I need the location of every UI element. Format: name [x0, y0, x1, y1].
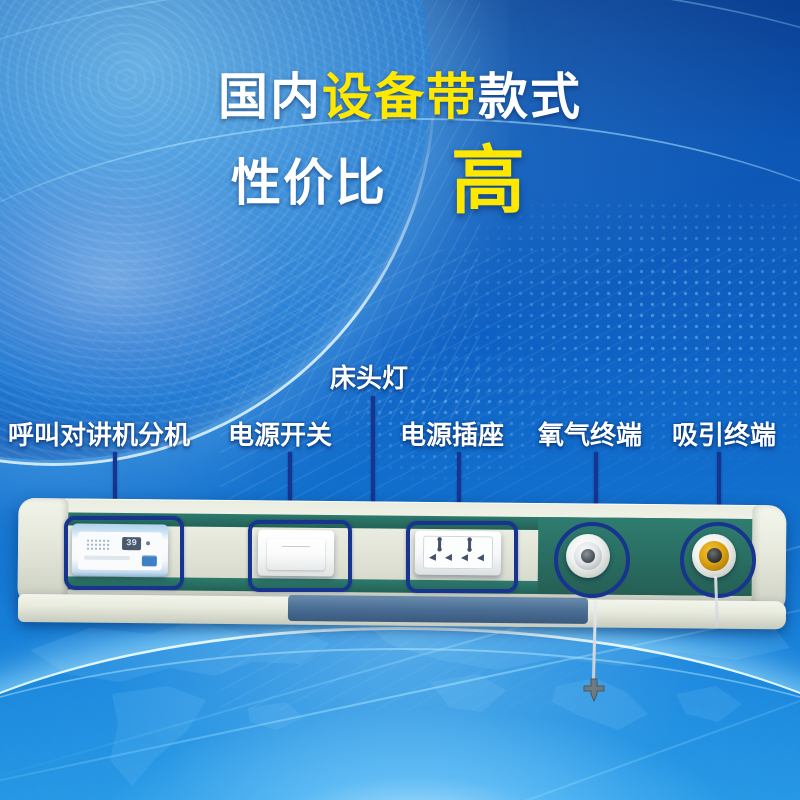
- highlight-box-intercom: [64, 516, 184, 590]
- panel-end-cap-left: [17, 498, 68, 606]
- poster-canvas: 国内设备带款式 性价比高 呼叫对讲机分机 电源开关 床头灯 电源插座 氧气终端 …: [0, 0, 800, 800]
- highlight-circle-oxygen-terminal: [554, 522, 630, 598]
- headline-line-1: 国内设备带款式: [0, 72, 800, 122]
- headline-value-phrase: 性价比: [231, 158, 387, 208]
- headline-part-2: 设备带: [322, 69, 478, 125]
- highlight-box-power-switch: [248, 520, 352, 592]
- panel-end-cap-right: [751, 505, 786, 613]
- highlight-box-power-socket: [406, 521, 518, 593]
- headline-part-3: 款式: [478, 69, 582, 125]
- headline-part-1: 国内: [218, 69, 322, 125]
- callout-oxygen-terminal-label: 氧气终端: [538, 415, 642, 452]
- panel-rail-blue-segment: [288, 595, 588, 624]
- horizon-glow-arc-secondary: [0, 648, 800, 800]
- headline-emphasis-word: 高: [451, 144, 527, 218]
- callout-suction-terminal-label: 吸引终端: [672, 415, 776, 452]
- callout-intercom-label: 呼叫对讲机分机: [8, 415, 190, 452]
- callout-power-switch-label: 电源开关: [228, 415, 332, 452]
- headline-line-2: 性价比高: [0, 144, 800, 218]
- cord-hanger-hook-icon: [580, 676, 608, 704]
- callout-bed-lamp-label: 床头灯: [330, 358, 408, 395]
- callout-power-socket-label: 电源插座: [400, 415, 504, 452]
- headline-block: 国内设备带款式 性价比高: [0, 72, 800, 218]
- highlight-circle-suction-terminal: [680, 522, 756, 598]
